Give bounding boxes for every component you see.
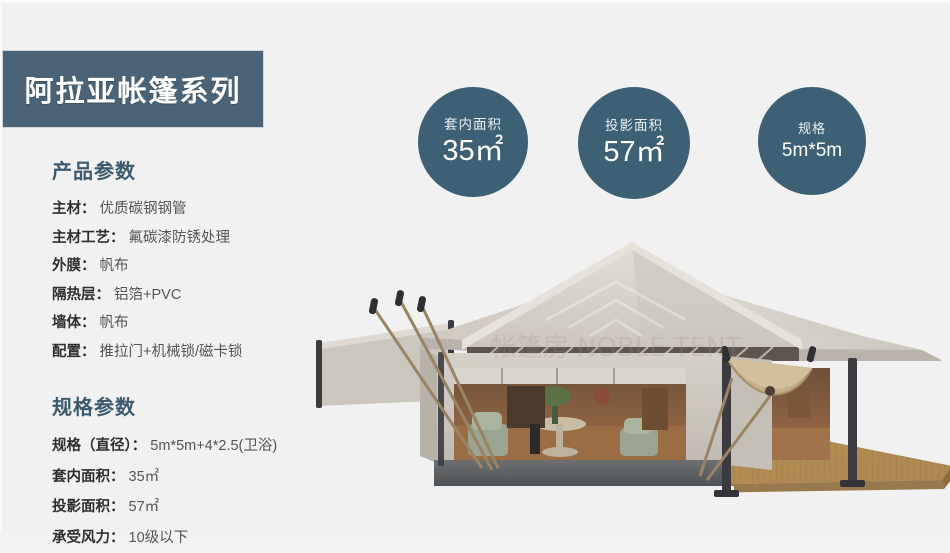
badge-dimensions: 规格 5m*5m (758, 87, 866, 195)
page-root: 阿拉亚帐篷系列 产品参数 主材： 优质碳钢钢管 主材工艺： 氟碳漆防锈处理 外膜… (0, 0, 950, 534)
spec-value: 10级以下 (129, 530, 189, 546)
param-key: 主材工艺： (52, 230, 125, 246)
param-key: 隔热层： (52, 287, 110, 303)
spec-key: 承受风力： (52, 530, 125, 546)
tent-svg: 帐篷房 NOBLE TENT (302, 228, 950, 528)
spec-key: 规格（直径）： (52, 438, 146, 454)
param-value: 氟碳漆防锈处理 (129, 230, 231, 246)
badge-value: 57㎡ (603, 138, 664, 167)
badge-value: 5m*5m (782, 141, 842, 160)
spec-value: 5m*5m+4*2.5(卫浴) (150, 438, 277, 454)
title-banner: 阿拉亚帐篷系列 (2, 50, 264, 128)
param-value: 优质碳钢钢管 (100, 201, 187, 217)
param-value: 推拉门+机械锁/磁卡锁 (100, 344, 243, 360)
spec-key: 套内面积： (52, 469, 125, 485)
badge-value: 35㎡ (442, 137, 503, 166)
param-value: 帆布 (100, 258, 129, 274)
product-params-heading: 产品参数 (52, 155, 352, 184)
param-key: 主材： (52, 201, 96, 217)
param-value: 铝箔+PVC (114, 287, 181, 303)
watermark-text: 帐篷房 NOBLE TENT (491, 333, 742, 363)
badge-projected-area: 投影面积 57㎡ (578, 87, 690, 199)
badge-interior-area: 套内面积 35㎡ (418, 87, 528, 197)
badge-label: 投影面积 (605, 119, 663, 133)
param-value: 帆布 (100, 315, 129, 331)
badge-label: 规格 (798, 122, 826, 135)
param-key: 配置： (52, 344, 96, 360)
badge-label: 套内面积 (444, 118, 502, 132)
tent-illustration: 帐篷房 NOBLE TENT (302, 228, 950, 528)
param-row: 主材： 优质碳钢钢管 (52, 195, 352, 224)
spec-value: 57㎡ (129, 499, 160, 515)
spec-value: 35㎡ (129, 469, 160, 485)
param-key: 外膜： (52, 258, 96, 274)
page-title: 阿拉亚帐篷系列 (24, 68, 241, 110)
spec-key: 投影面积： (52, 499, 125, 515)
param-key: 墙体： (52, 315, 96, 331)
